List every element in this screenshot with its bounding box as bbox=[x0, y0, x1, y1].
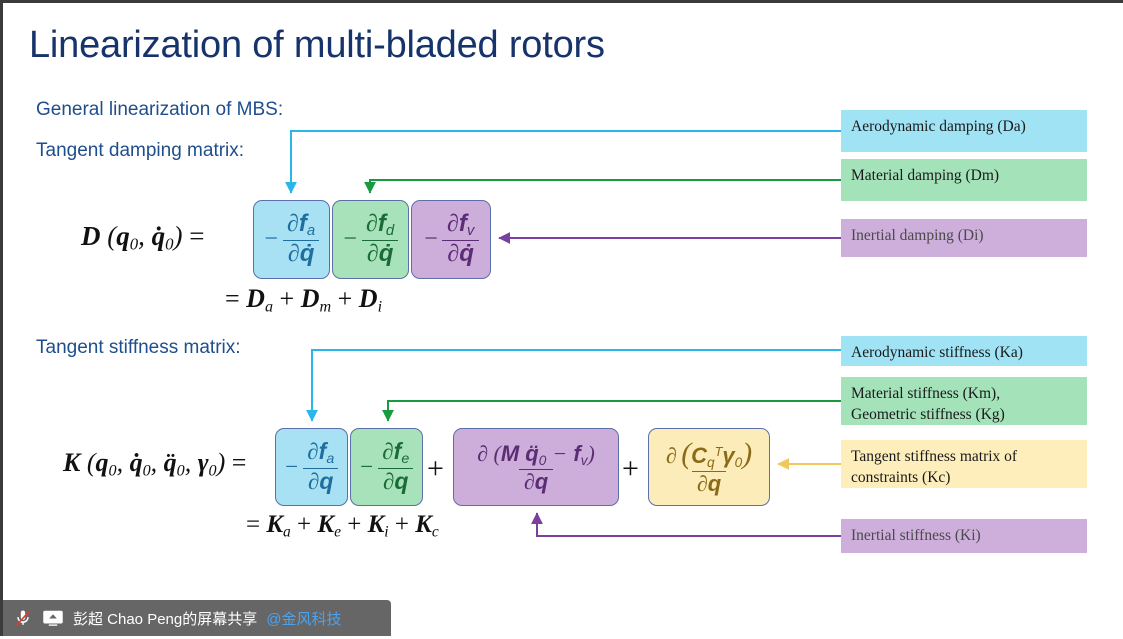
term-box-stiffness-constraints: ∂ (CqTγ0) ∂q bbox=[648, 428, 770, 506]
microphone-muted-icon[interactable] bbox=[13, 608, 33, 628]
legend-inertial-stiffness: Inertial stiffness (Ki) bbox=[841, 519, 1087, 553]
share-host-tag: @金风科技 bbox=[266, 608, 341, 629]
screen-share-status-bar: 彭超 Chao Peng的屏幕共享 @金风科技 bbox=[3, 600, 391, 636]
term-box-damping-aerodynamic: − ∂fa ∂q̇ bbox=[253, 200, 330, 279]
slide-canvas: Linearization of multi-bladed rotors Gen… bbox=[0, 0, 1123, 636]
legend-tangent-constraints-line2: constraints (Kc) bbox=[851, 468, 1087, 489]
screen-share-icon[interactable] bbox=[42, 609, 64, 627]
label-tangent-stiffness-matrix: Tangent stiffness matrix: bbox=[36, 337, 241, 359]
legend-aerodynamic-stiffness: Aerodynamic stiffness (Ka) bbox=[841, 336, 1087, 366]
legend-inertial-damping: Inertial damping (Di) bbox=[841, 219, 1087, 257]
term-box-stiffness-inertial: ∂ (M q̈0 − fv) ∂q bbox=[453, 428, 619, 506]
wire-material-damping bbox=[370, 180, 841, 193]
plus-sign-1: + bbox=[427, 452, 444, 486]
legend-material-stiffness-line1: Material stiffness (Km), bbox=[851, 384, 1087, 405]
legend-aerodynamic-damping: Aerodynamic damping (Da) bbox=[841, 110, 1087, 152]
plus-sign-2: + bbox=[622, 452, 639, 486]
legend-material-damping: Material damping (Dm) bbox=[841, 159, 1087, 201]
damping-equation-lhs: D (q0, q̇0) = bbox=[81, 221, 204, 255]
wire-material-stiffness bbox=[388, 401, 841, 421]
wire-inertial-stiffness bbox=[537, 513, 841, 536]
section-heading-general: General linearization of MBS: bbox=[36, 99, 283, 121]
share-owner-text: 彭超 Chao Peng的屏幕共享 bbox=[73, 608, 257, 629]
term-box-stiffness-aerodynamic: − ∂fa ∂q bbox=[275, 428, 348, 506]
legend-tangent-constraints-line1: Tangent stiffness matrix of bbox=[851, 447, 1087, 468]
term-box-stiffness-material: − ∂fe ∂q bbox=[350, 428, 423, 506]
wire-aero-stiffness bbox=[312, 350, 841, 421]
page-title: Linearization of multi-bladed rotors bbox=[29, 25, 605, 67]
legend-material-stiffness-line2: Geometric stiffness (Kg) bbox=[851, 405, 1087, 426]
stiffness-equation-lhs: K (q0, q̇0, q̈0, γ0) = bbox=[63, 448, 246, 481]
stiffness-equation-sum: = Ka + Ke + Ki + Kc bbox=[246, 511, 439, 541]
term-box-damping-material: − ∂fd ∂q̇ bbox=[332, 200, 409, 279]
wire-aero-damping bbox=[291, 131, 841, 193]
damping-equation-sum: = Da + Dm + Di bbox=[225, 284, 382, 317]
term-box-damping-inertial: − ∂fv ∂q̇ bbox=[411, 200, 491, 279]
legend-tangent-constraints: Tangent stiffness matrix of constraints … bbox=[841, 440, 1087, 488]
legend-material-stiffness: Material stiffness (Km), Geometric stiff… bbox=[841, 377, 1087, 425]
label-tangent-damping-matrix: Tangent damping matrix: bbox=[36, 140, 244, 162]
